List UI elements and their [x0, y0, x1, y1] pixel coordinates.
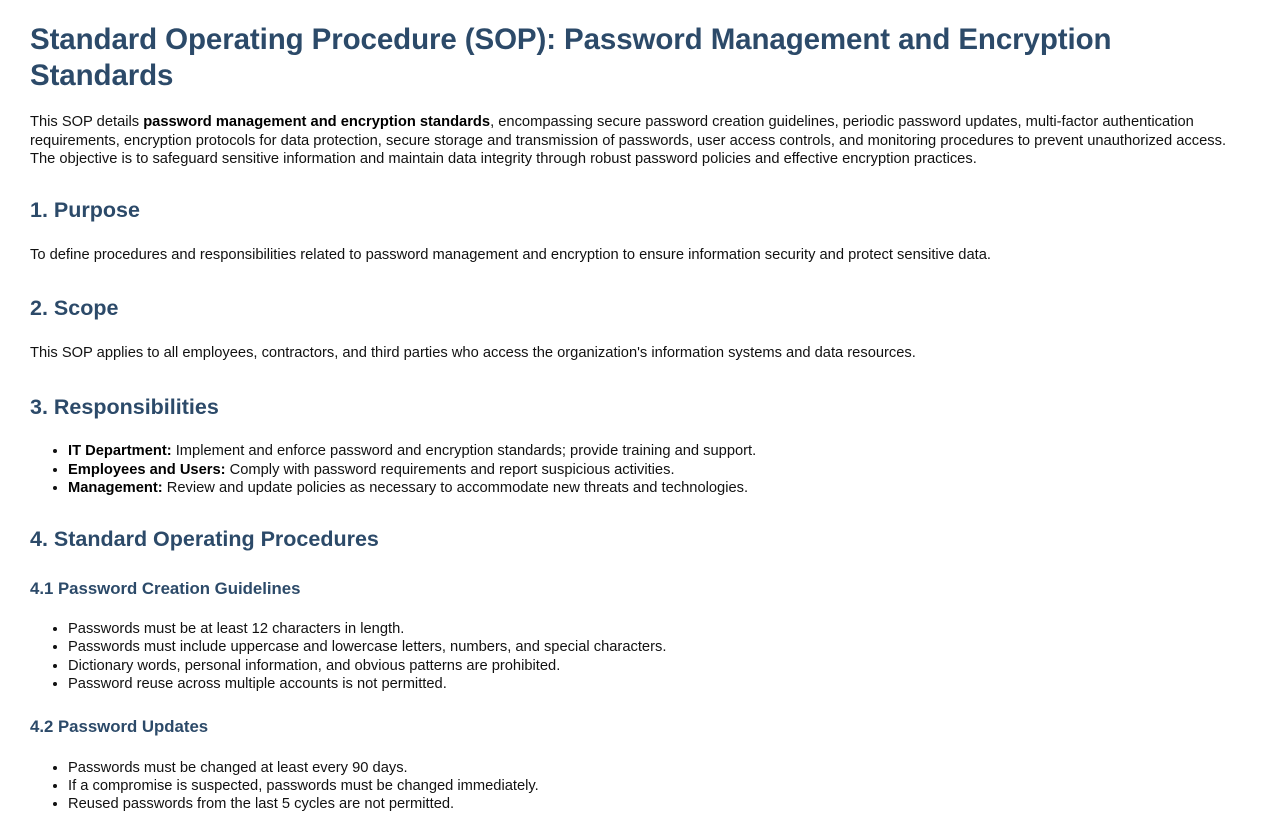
list-item: IT Department: Implement and enforce pas…	[68, 442, 1232, 460]
section-heading-procedures: 4. Standard Operating Procedures	[30, 527, 1232, 553]
section-heading-scope: 2. Scope	[30, 296, 1232, 322]
list-item-term: Employees and Users:	[68, 462, 226, 478]
list-item: Dictionary words, personal information, …	[68, 657, 1232, 675]
password-creation-list: Passwords must be at least 12 characters…	[30, 620, 1232, 693]
subsection-heading-password-creation: 4.1 Password Creation Guidelines	[30, 579, 1232, 599]
document-page: Standard Operating Procedure (SOP): Pass…	[0, 0, 1263, 837]
password-updates-list: Passwords must be changed at least every…	[30, 759, 1232, 814]
list-item: Employees and Users: Comply with passwor…	[68, 461, 1232, 479]
intro-lead-in: This SOP details	[30, 114, 143, 130]
list-item: Passwords must include uppercase and low…	[68, 638, 1232, 656]
page-title: Standard Operating Procedure (SOP): Pass…	[30, 22, 1220, 94]
responsibilities-list: IT Department: Implement and enforce pas…	[30, 442, 1232, 497]
list-item-text: Comply with password requirements and re…	[226, 462, 675, 478]
section-heading-purpose: 1. Purpose	[30, 198, 1232, 224]
scope-paragraph: This SOP applies to all employees, contr…	[30, 344, 1232, 363]
subsection-heading-password-updates: 4.2 Password Updates	[30, 717, 1232, 737]
list-item-term: Management:	[68, 480, 163, 496]
list-item: Password reuse across multiple accounts …	[68, 675, 1232, 693]
section-heading-responsibilities: 3. Responsibilities	[30, 395, 1232, 421]
list-item: Passwords must be changed at least every…	[68, 759, 1232, 777]
list-item-text: Implement and enforce password and encry…	[172, 443, 757, 459]
intro-paragraph: This SOP details password management and…	[30, 113, 1232, 169]
list-item: Management: Review and update policies a…	[68, 479, 1232, 497]
list-item: If a compromise is suspected, passwords …	[68, 777, 1232, 795]
intro-emphasis: password management and encryption stand…	[143, 114, 490, 130]
list-item: Passwords must be at least 12 characters…	[68, 620, 1232, 638]
list-item-text: Review and update policies as necessary …	[163, 480, 748, 496]
purpose-paragraph: To define procedures and responsibilitie…	[30, 246, 1232, 265]
list-item: Reused passwords from the last 5 cycles …	[68, 795, 1232, 813]
list-item-term: IT Department:	[68, 443, 172, 459]
